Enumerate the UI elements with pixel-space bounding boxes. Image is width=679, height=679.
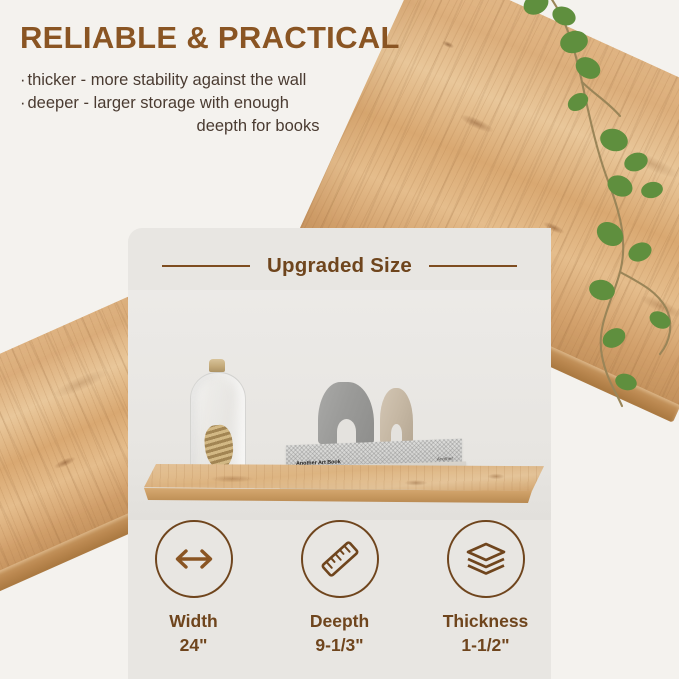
art-book-subtitle: Another (437, 456, 453, 462)
bullet-marker: · (20, 71, 26, 89)
beige-elephant-figurine (380, 388, 413, 444)
layers-icon (463, 540, 509, 578)
spec-icon-frame (301, 520, 379, 598)
shelf-top-surface (144, 464, 544, 491)
glass-cloche-decor (186, 360, 248, 478)
spec-label: Width (169, 611, 217, 632)
cloche-glass (190, 372, 246, 478)
spec-label: Thickness (443, 611, 529, 632)
product-photo: Another Art Book Another WORLD BALLET Ya… (128, 290, 551, 520)
specifications-row: Width 24" (128, 520, 551, 656)
card-heading-row: Upgraded Size (128, 254, 551, 278)
spec-value: 9-1/3" (315, 635, 363, 656)
spec-value: 1-1/2" (461, 635, 509, 656)
spec-label: Deepth (310, 611, 369, 632)
headline-block: RELIABLE & PRACTICAL ·thicker - more sta… (20, 22, 450, 139)
divider-rule-right (429, 265, 517, 267)
bullet-marker: · (20, 94, 26, 112)
page-title: RELIABLE & PRACTICAL (20, 22, 450, 55)
floating-shelf (144, 464, 544, 502)
bullet-text: deepth for books (197, 117, 320, 135)
spec-icon-frame (447, 520, 525, 598)
bullet-item-continuation: deepth for books (20, 115, 450, 138)
feature-bullet-list: ·thicker - more stability against the wa… (20, 69, 450, 139)
ruler-icon (318, 537, 362, 581)
gray-elephant-figurine (318, 382, 374, 444)
width-arrow-icon (172, 546, 216, 572)
bullet-item: ·deeper - larger storage with enough (20, 92, 450, 115)
upgraded-size-card: Upgraded Size Another Art Book Another W… (128, 228, 551, 679)
spec-item-width: Width 24" (142, 520, 246, 656)
bullet-text: deeper - larger storage with enough (28, 94, 289, 112)
product-infographic: RELIABLE & PRACTICAL ·thicker - more sta… (0, 0, 679, 679)
cloche-knob (209, 359, 225, 372)
card-heading: Upgraded Size (267, 254, 412, 278)
bullet-item: ·thicker - more stability against the wa… (20, 69, 450, 92)
spec-value: 24" (180, 635, 208, 656)
spec-item-depth: Deepth 9-1/3" (288, 520, 392, 656)
divider-rule-left (162, 265, 250, 267)
spec-item-thickness: Thickness 1-1/2" (434, 520, 538, 656)
bullet-text: thicker - more stability against the wal… (28, 71, 307, 89)
spec-icon-frame (155, 520, 233, 598)
